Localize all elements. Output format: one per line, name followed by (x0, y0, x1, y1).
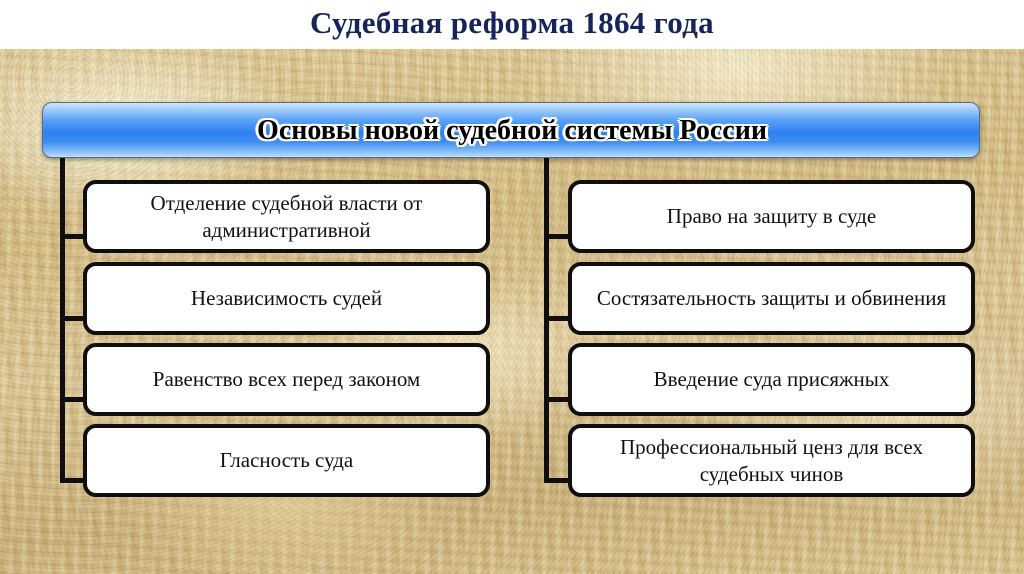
right-item-label-4: Профессиональный ценз для всех судебных … (584, 434, 959, 488)
right-item-box-3[interactable]: Введение суда присяжных (568, 343, 975, 416)
root-node-label: Основы новой судебной системы России (43, 103, 981, 159)
right-item-label-3: Введение суда присяжных (584, 366, 959, 393)
right-item-box-4[interactable]: Профессиональный ценз для всех судебных … (568, 424, 975, 497)
right-item-label-2: Состязательность защиты и обвинения (584, 285, 959, 312)
root-node-banner: Основы новой судебной системы России (42, 102, 980, 158)
page-title: Судебная реформа 1864 года (0, 1, 1024, 45)
left-item-box-4[interactable]: Гласность суда (83, 424, 490, 497)
left-item-box-2[interactable]: Независимость судей (83, 262, 490, 335)
right-item-label-1: Право на защиту в суде (584, 203, 959, 230)
left-item-label-2: Независимость судей (99, 285, 474, 312)
right-item-box-2[interactable]: Состязательность защиты и обвинения (568, 262, 975, 335)
right-item-box-1[interactable]: Право на защиту в суде (568, 180, 975, 253)
left-item-box-1[interactable]: Отделение судебной власти от администрат… (83, 180, 490, 253)
left-item-label-4: Гласность суда (99, 447, 474, 474)
left-item-label-1: Отделение судебной власти от администрат… (99, 190, 474, 244)
left-item-box-3[interactable]: Равенство всех перед законом (83, 343, 490, 416)
left-item-label-3: Равенство всех перед законом (99, 366, 474, 393)
slide-canvas: Судебная реформа 1864 года Основы новой … (0, 0, 1024, 574)
